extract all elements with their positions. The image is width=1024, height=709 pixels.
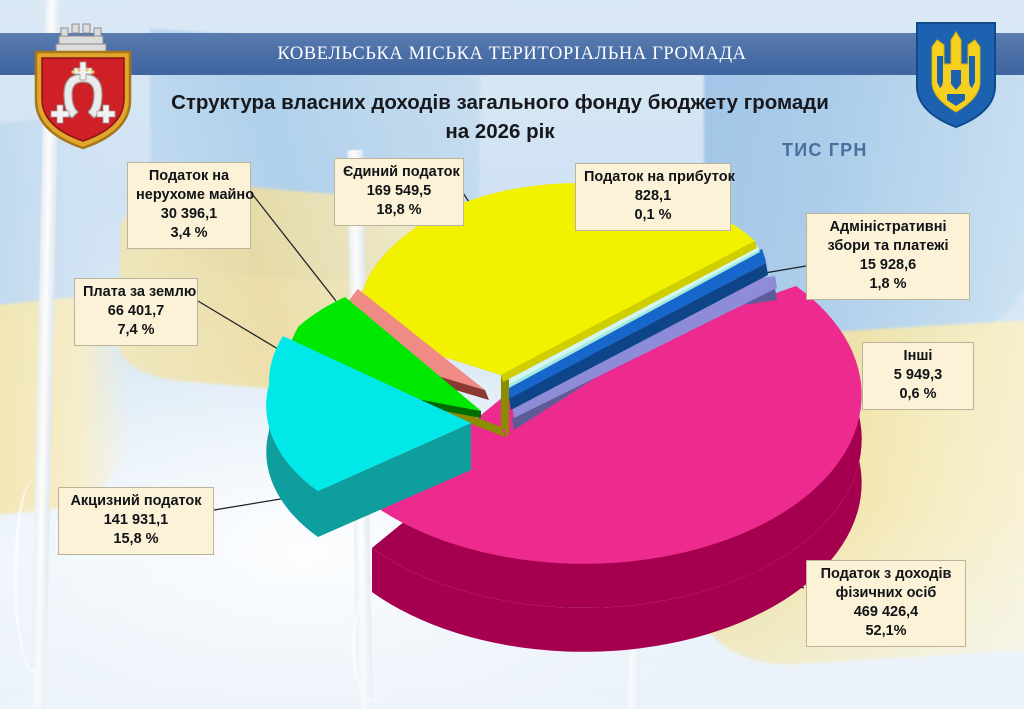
- callout-percent: 3,4 %: [136, 224, 242, 243]
- callout-percent: 0,6 %: [871, 385, 965, 404]
- callout-title: Єдиний податок: [343, 163, 455, 182]
- callout-value: 15 928,6: [815, 256, 961, 275]
- callout-percent: 18,8 %: [343, 201, 455, 220]
- callout-inshi[interactable]: Інші 5 949,3 0,6 %: [862, 342, 974, 410]
- callout-percent: 1,8 %: [815, 275, 961, 294]
- callout-percent: 15,8 %: [67, 530, 205, 549]
- callout-title2: фізичних осіб: [815, 584, 957, 603]
- leader-line-podatok-neruhome: [249, 190, 336, 301]
- callout-value: 141 931,1: [67, 511, 205, 530]
- callout-title: Інші: [871, 347, 965, 366]
- callout-value: 5 949,3: [871, 366, 965, 385]
- callout-title: Плата за землю: [83, 283, 189, 302]
- callout-value: 169 549,5: [343, 182, 455, 201]
- callout-title: Податок на: [136, 167, 242, 186]
- callout-title2: збори та платежі: [815, 237, 961, 256]
- callout-percent: 52,1%: [815, 622, 957, 641]
- callout-title: Адміністративні: [815, 218, 961, 237]
- callout-percent: 7,4 %: [83, 321, 189, 340]
- callout-value: 66 401,7: [83, 302, 189, 321]
- callout-title: Податок з доходів: [815, 565, 957, 584]
- callout-edynyi-podatok[interactable]: Єдиний податок 169 549,5 18,8 %: [334, 158, 464, 226]
- callout-pdfo[interactable]: Податок з доходів фізичних осіб 469 426,…: [806, 560, 966, 647]
- callout-akcyznyi-podatok[interactable]: Акцизний податок 141 931,1 15,8 %: [58, 487, 214, 555]
- callout-podatok-neruhome[interactable]: Податок на нерухоме майно 30 396,1 3,4 %: [127, 162, 251, 249]
- callout-title: Податок на прибуток: [584, 168, 722, 187]
- callout-value: 828,1: [584, 187, 722, 206]
- callout-title: Акцизний податок: [67, 492, 205, 511]
- callout-percent: 0,1 %: [584, 206, 722, 225]
- slide-canvas: КОВЕЛЬСЬКА МІСЬКА ТЕРИТОРІАЛЬНА ГРОМАДА: [0, 0, 1024, 709]
- callout-value: 469 426,4: [815, 603, 957, 622]
- callout-administratyvni-zbory[interactable]: Адміністративні збори та платежі 15 928,…: [806, 213, 970, 300]
- callout-value: 30 396,1: [136, 205, 242, 224]
- callout-title2: нерухоме майно: [136, 186, 242, 205]
- callout-plata-za-zemlyu[interactable]: Плата за землю 66 401,7 7,4 %: [74, 278, 198, 346]
- callout-podatok-na-prybutok[interactable]: Податок на прибуток 828,1 0,1 %: [575, 163, 731, 231]
